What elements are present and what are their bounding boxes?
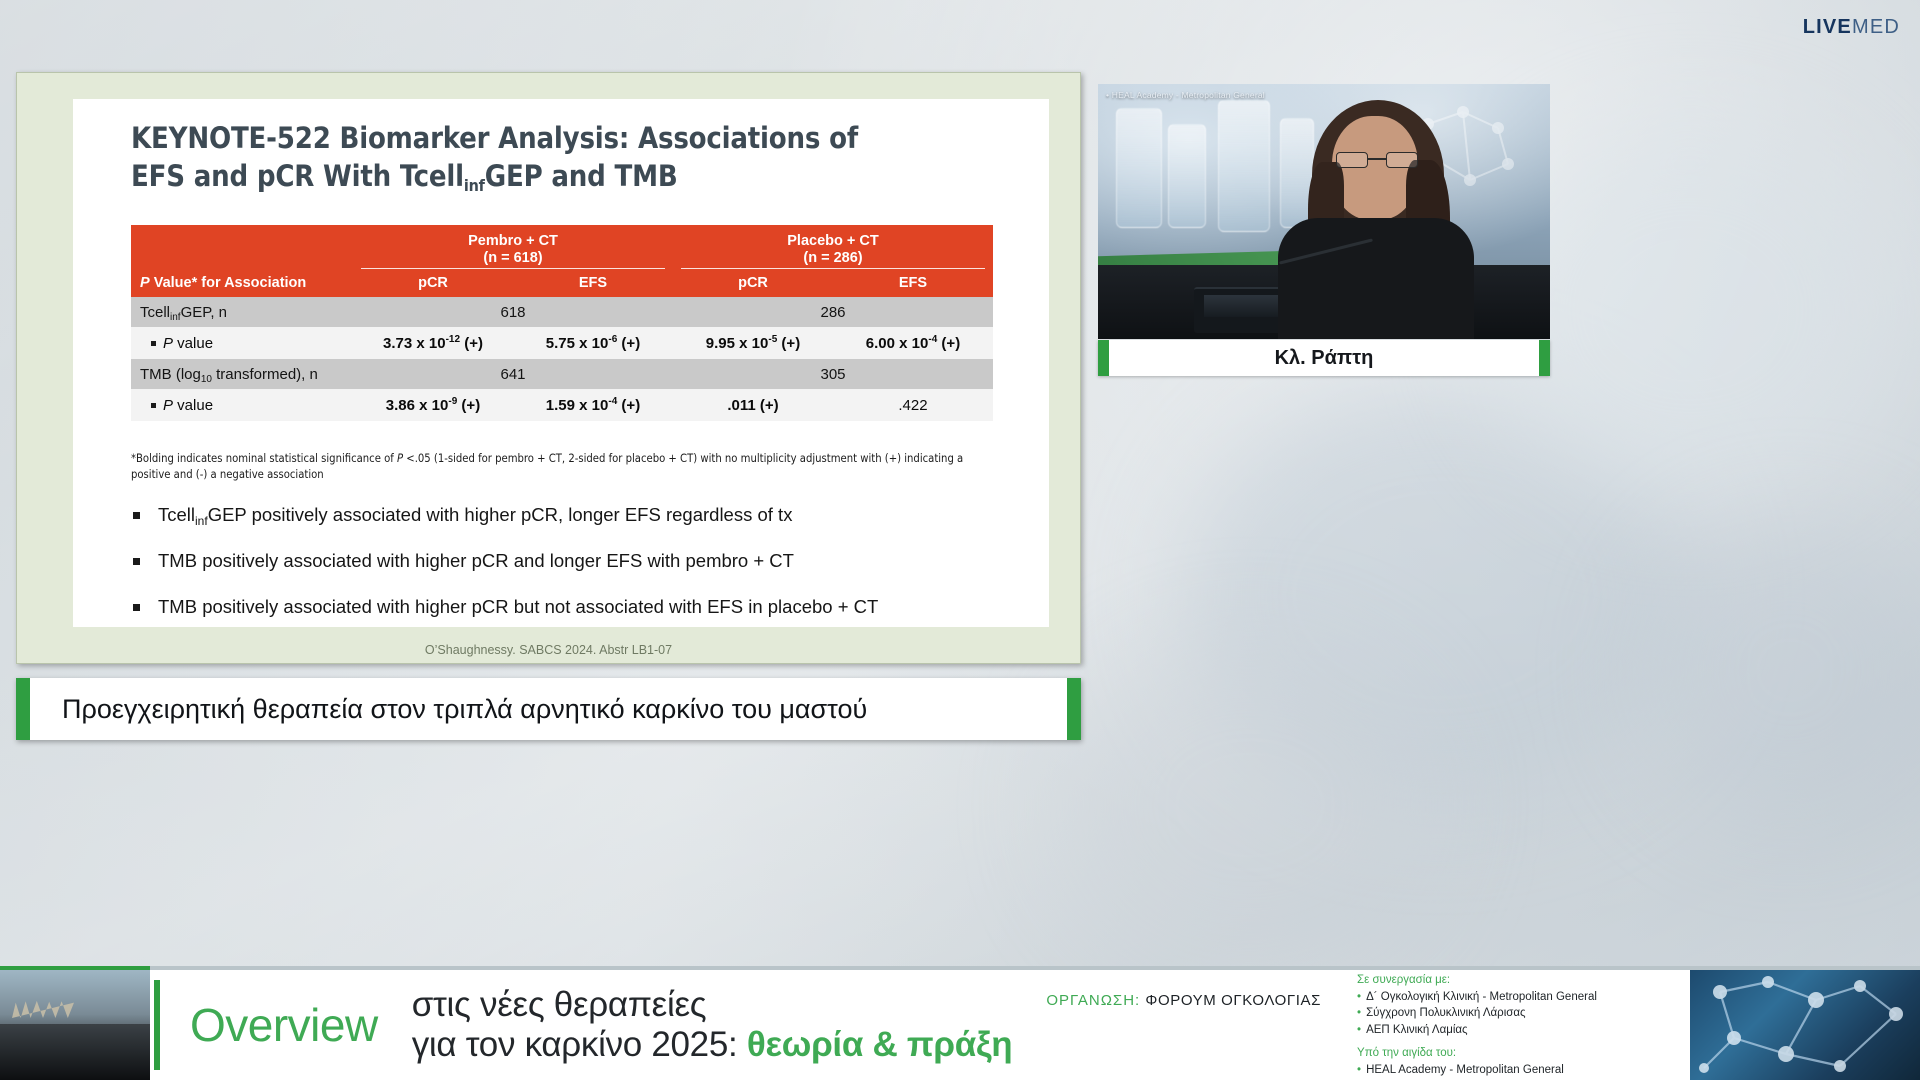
association-label-text: Value* for Association <box>154 275 307 291</box>
bullet-square-icon <box>133 558 140 565</box>
table-group-header-pembro: Pembro + CT (n = 618) <box>353 225 673 269</box>
biomarker-results-table: Pembro + CT (n = 618) Placebo + CT (n = … <box>131 225 993 421</box>
bullet-text: TMB positively associated with higher pC… <box>158 595 878 618</box>
value-mantissa: 9.95 x 10 <box>706 335 769 352</box>
value-sign: (+) <box>617 335 640 352</box>
p-italic: P <box>140 275 150 291</box>
value-exponent: -4 <box>608 396 617 407</box>
value-sign: (+) <box>937 335 960 352</box>
value-mantissa: 3.73 x 10 <box>383 335 446 352</box>
glasses-lens-right <box>1386 152 1418 168</box>
table-header-placebo-efs: EFS <box>833 269 993 297</box>
bullet-text-a: Tcell <box>158 504 195 525</box>
footer-divider <box>0 966 1920 970</box>
group-label-pembro: Pembro + CT <box>353 233 673 250</box>
footer-organizer: ΟΡΓΑΝΩΣΗ: ΦΟΡΟΥΜ ΟΓΚΟΛΟΓΙΑΣ <box>1012 970 1321 1080</box>
value-exponent: -9 <box>448 396 457 407</box>
slide-title-line-2b: GEP and TMB <box>485 159 678 193</box>
value-exponent: -12 <box>446 334 460 345</box>
speaker-body <box>1278 218 1474 339</box>
cell-pvalue-pembro-efs: 5.75 x 10-6 (+) <box>513 327 673 359</box>
auspices-item: HEAL Academy - Metropolitan General <box>1357 1062 1690 1078</box>
slide-title-subscript: inf <box>464 176 485 195</box>
bullet-square-icon <box>151 341 156 346</box>
organizer-label: ΟΡΓΑΝΩΣΗ: <box>1046 992 1145 1009</box>
table-header-placebo-pcr: pCR <box>673 269 833 297</box>
slide-title-line-2a: EFS and pCR With Tcell <box>131 159 464 193</box>
row-label-a: TMB (log <box>140 366 201 383</box>
glasses-lens-left <box>1336 152 1368 168</box>
footer-title-highlight: θεωρία & πράξη <box>747 1025 1012 1064</box>
value-sign: (+) <box>777 335 800 352</box>
value-exponent: -6 <box>608 334 617 345</box>
speaker-name: Κλ. Ράπτη <box>1275 347 1374 370</box>
cell-pvalue-placebo-pcr: 9.95 x 10-5 (+) <box>673 327 833 359</box>
event-footer-banner: Overview στις νέες θεραπείες για τον καρ… <box>0 970 1920 1080</box>
bullet-text: TcellinfGEP positively associated with h… <box>158 503 792 526</box>
speaker-video[interactable]: • HEAL Academy - Metropolitan General <box>1098 84 1550 339</box>
footer-title-line-1: στις νέες θεραπείες <box>412 985 1013 1025</box>
table-group-header-blank <box>131 225 353 269</box>
group-label-placebo: Placebo + CT <box>673 233 993 250</box>
partner-item: Σύγχρονη Πολυκλινική Λάρισας <box>1357 1005 1690 1021</box>
lab-flask-icon <box>1116 108 1162 228</box>
value-mantissa: 6.00 x 10 <box>866 335 929 352</box>
row-label-pvalue-tcellgep: P value <box>131 327 353 359</box>
slide-content-area: KEYNOTE-522 Biomarker Analysis: Associat… <box>73 99 1049 627</box>
row-label-b: transformed), n <box>212 366 318 383</box>
value-exponent: -5 <box>768 334 777 345</box>
slide-bullet-list: TcellinfGEP positively associated with h… <box>133 503 1013 641</box>
slide-title-line-1: KEYNOTE-522 Biomarker Analysis: Associat… <box>131 121 858 155</box>
p-italic: P <box>163 397 173 414</box>
partner-item: Δ´ Ογκολογική Κλινική - Metropolitan Gen… <box>1357 989 1690 1005</box>
cell-pvalue-placebo-efs: 6.00 x 10-4 (+) <box>833 327 993 359</box>
table-group-header-row: Pembro + CT (n = 618) Placebo + CT (n = … <box>131 225 993 269</box>
table-header-association-label: P Value* for Association <box>131 269 353 297</box>
presentation-slide[interactable]: KEYNOTE-522 Biomarker Analysis: Associat… <box>16 72 1081 664</box>
table-row: P value 3.73 x 10-12 (+) 5.75 x 10-6 (+)… <box>131 327 993 359</box>
cell-tcellgep-placebo-n: 286 <box>673 297 993 327</box>
value-mantissa: 1.59 x 10 <box>546 397 609 414</box>
slide-title: KEYNOTE-522 Biomarker Analysis: Associat… <box>131 119 991 196</box>
footer-title-line-2: για τον καρκίνο 2025: θεωρία & πράξη <box>412 1025 1013 1065</box>
bullet-text: TMB positively associated with higher pC… <box>158 549 794 572</box>
organizer-value: ΦΟΡΟΥΜ ΟΓΚΟΛΟΓΙΑΣ <box>1145 992 1321 1009</box>
row-label-sub: 10 <box>201 374 212 385</box>
logo-med-text: MED <box>1852 16 1900 38</box>
speaker-figure <box>1274 100 1524 339</box>
bullet-square-icon <box>151 403 156 408</box>
row-label-tcellgep: TcellinfGEP, n <box>131 297 353 327</box>
row-label-sub: inf <box>170 312 181 323</box>
table-column-header-row: P Value* for Association pCR EFS pCR EFS <box>131 269 993 297</box>
list-item: TMB positively associated with higher pC… <box>133 549 1013 572</box>
table-row: P value 3.86 x 10-9 (+) 1.59 x 10-4 (+) … <box>131 389 993 421</box>
group-n-pembro: (n = 618) <box>353 250 673 267</box>
value-sign: (+) <box>460 335 483 352</box>
table-row: TcellinfGEP, n 618 286 <box>131 297 993 327</box>
livemed-logo: LIVEMED <box>1803 16 1900 39</box>
value-sign: (+) <box>457 397 480 414</box>
row-label-pvalue-tmb: P value <box>131 389 353 421</box>
row-label-rest: value <box>173 335 213 352</box>
slide-citation: O’Shaughnessy. SABCS 2024. Abstr LB1-07 <box>17 643 1080 657</box>
value-mantissa: 3.86 x 10 <box>386 397 449 414</box>
table-header-pembro-efs: EFS <box>513 269 673 297</box>
row-label-rest: value <box>173 397 213 414</box>
bullet-subscript: inf <box>195 514 208 528</box>
acropolis-photo <box>0 970 150 1080</box>
table-footnote: *Bolding indicates nominal statistical s… <box>131 451 997 483</box>
row-label-a: Tcell <box>140 304 170 321</box>
value-mantissa: .011 (+) <box>727 397 778 414</box>
table-row: TMB (log10 transformed), n 641 305 <box>131 359 993 389</box>
partners-heading: Σε συνεργασία με: <box>1357 972 1690 988</box>
cell-tcellgep-pembro-n: 618 <box>353 297 673 327</box>
session-title-bar: Προεγχειρητική θεραπεία στον τριπλά αρνη… <box>16 678 1081 740</box>
auspices-heading: Υπό την αιγίδα του: <box>1357 1045 1690 1061</box>
table-header-pembro-pcr: pCR <box>353 269 513 297</box>
speaker-name-bar: Κλ. Ράπτη <box>1098 340 1550 376</box>
organizer-line: ΟΡΓΑΝΩΣΗ: ΦΟΡΟΥΜ ΟΓΚΟΛΟΓΙΑΣ <box>1046 992 1321 1009</box>
row-label-tmb: TMB (log10 transformed), n <box>131 359 353 389</box>
footer-overview-label: Overview <box>160 970 404 1080</box>
cell-tmb-pvalue-placebo-efs: .422 <box>833 389 993 421</box>
value-mantissa: .422 <box>898 397 927 414</box>
partner-item: ΑΕΠ Κλινική Λαμίας <box>1357 1022 1690 1038</box>
cell-tmb-pvalue-pembro-efs: 1.59 x 10-4 (+) <box>513 389 673 421</box>
footer-event-title: στις νέες θεραπείες για τον καρκίνο 2025… <box>404 970 1013 1080</box>
lab-flask-icon <box>1168 124 1206 228</box>
list-item: TcellinfGEP positively associated with h… <box>133 503 1013 526</box>
bullet-square-icon <box>133 604 140 611</box>
row-label-b: GEP, n <box>181 304 227 321</box>
list-item: TMB positively associated with higher pC… <box>133 595 1013 618</box>
value-exponent: -4 <box>928 334 937 345</box>
cell-tmb-pvalue-placebo-pcr: .011 (+) <box>673 389 833 421</box>
session-title: Προεγχειρητική θεραπεία στον τριπλά αρνη… <box>30 694 867 725</box>
cell-tmb-placebo-n: 305 <box>673 359 993 389</box>
glasses-icon <box>1336 152 1418 168</box>
p-italic: P <box>163 335 173 352</box>
footer-title-line-2a: για τον καρκίνο 2025: <box>412 1025 747 1064</box>
footer-partners: Σε συνεργασία με: Δ´ Ογκολογική Κλινική … <box>1321 970 1690 1080</box>
logo-live-text: LIVE <box>1803 16 1852 38</box>
bullet-text-b: GEP positively associated with higher pC… <box>208 504 793 525</box>
molecule-graphic-icon <box>1690 970 1920 1080</box>
value-mantissa: 5.75 x 10 <box>546 335 609 352</box>
table-group-header-placebo: Placebo + CT (n = 286) <box>673 225 993 269</box>
group-n-placebo: (n = 286) <box>673 250 993 267</box>
cell-tmb-pvalue-pembro-pcr: 3.86 x 10-9 (+) <box>353 389 513 421</box>
cell-tmb-pembro-n: 641 <box>353 359 673 389</box>
bullet-square-icon <box>133 512 140 519</box>
value-sign: (+) <box>617 397 640 414</box>
glasses-bridge <box>1368 158 1386 160</box>
molecule-photo <box>1690 970 1920 1080</box>
lab-flask-icon <box>1218 100 1270 232</box>
video-overlay-caption: • HEAL Academy - Metropolitan General <box>1106 90 1265 100</box>
cell-pvalue-pembro-pcr: 3.73 x 10-12 (+) <box>353 327 513 359</box>
footnote-part-a: *Bolding indicates nominal statistical s… <box>131 452 397 465</box>
